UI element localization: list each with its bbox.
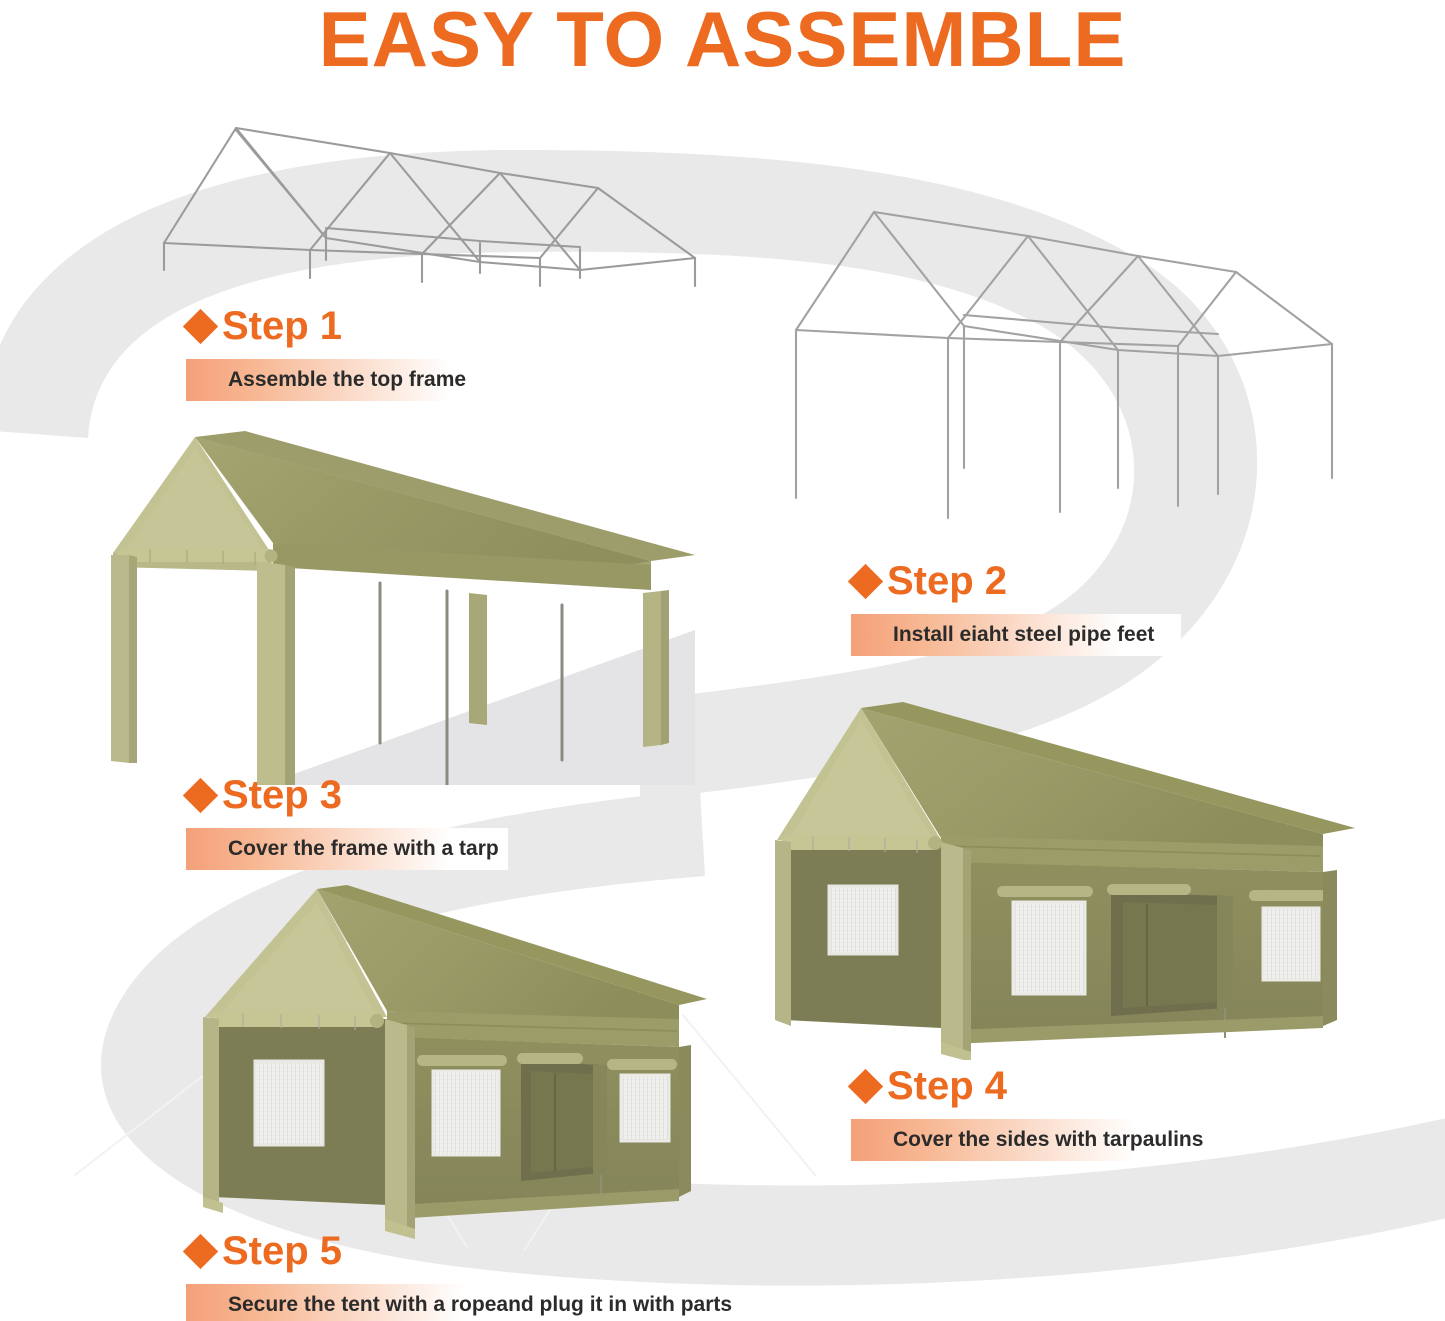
illustration-carport-roof-tarp — [95, 415, 695, 785]
step-subtitle-wrap-1: Assemble the top frame — [186, 359, 466, 401]
step-subtitle-3: Cover the frame with a tarp — [186, 837, 499, 861]
step-subtitle-4: Cover the sides with tarpaulins — [851, 1128, 1203, 1152]
step-title-3: Step 3 — [222, 775, 342, 815]
illustration-frame-with-legs — [770, 200, 1360, 520]
step-title-1: Step 1 — [222, 306, 342, 346]
step-subtitle-wrap-4: Cover the sides with tarpaulins — [851, 1119, 1203, 1161]
step-block-1: Step 1 Assemble the top frame — [186, 303, 466, 401]
step-block-2: Step 2 Install eiaht steel pipe feet — [851, 558, 1154, 656]
step-title-5: Step 5 — [222, 1231, 342, 1271]
step-subtitle-wrap-3: Cover the frame with a tarp — [186, 828, 499, 870]
step-subtitle-1: Assemble the top frame — [186, 368, 466, 392]
diamond-icon — [848, 1068, 883, 1103]
step-heading-2: Step 2 — [853, 558, 1154, 604]
step-heading-5: Step 5 — [188, 1228, 732, 1274]
step-title-4: Step 4 — [887, 1066, 1007, 1106]
infographic-canvas: EASY TO ASSEMBLE — [0, 0, 1445, 1321]
step-block-4: Step 4 Cover the sides with tarpaulins — [851, 1063, 1203, 1161]
step-heading-4: Step 4 — [853, 1063, 1203, 1109]
illustration-tent-with-ropes — [55, 875, 855, 1265]
step-subtitle-wrap-5: Secure the tent with a ropeand plug it i… — [186, 1284, 732, 1321]
diamond-icon — [183, 1233, 218, 1268]
step-heading-3: Step 3 — [188, 772, 499, 818]
diamond-icon — [848, 563, 883, 598]
step-block-5: Step 5 Secure the tent with a ropeand pl… — [186, 1228, 732, 1321]
page-title: EASY TO ASSEMBLE — [0, 0, 1445, 85]
step-block-3: Step 3 Cover the frame with a tarp — [186, 772, 499, 870]
step-subtitle-5: Secure the tent with a ropeand plug it i… — [186, 1293, 732, 1317]
step-subtitle-2: Install eiaht steel pipe feet — [851, 623, 1154, 647]
step-heading-1: Step 1 — [188, 303, 466, 349]
diamond-icon — [183, 777, 218, 812]
illustration-top-frame — [150, 110, 710, 300]
step-title-2: Step 2 — [887, 561, 1007, 601]
diamond-icon — [183, 308, 218, 343]
step-subtitle-wrap-2: Install eiaht steel pipe feet — [851, 614, 1154, 656]
